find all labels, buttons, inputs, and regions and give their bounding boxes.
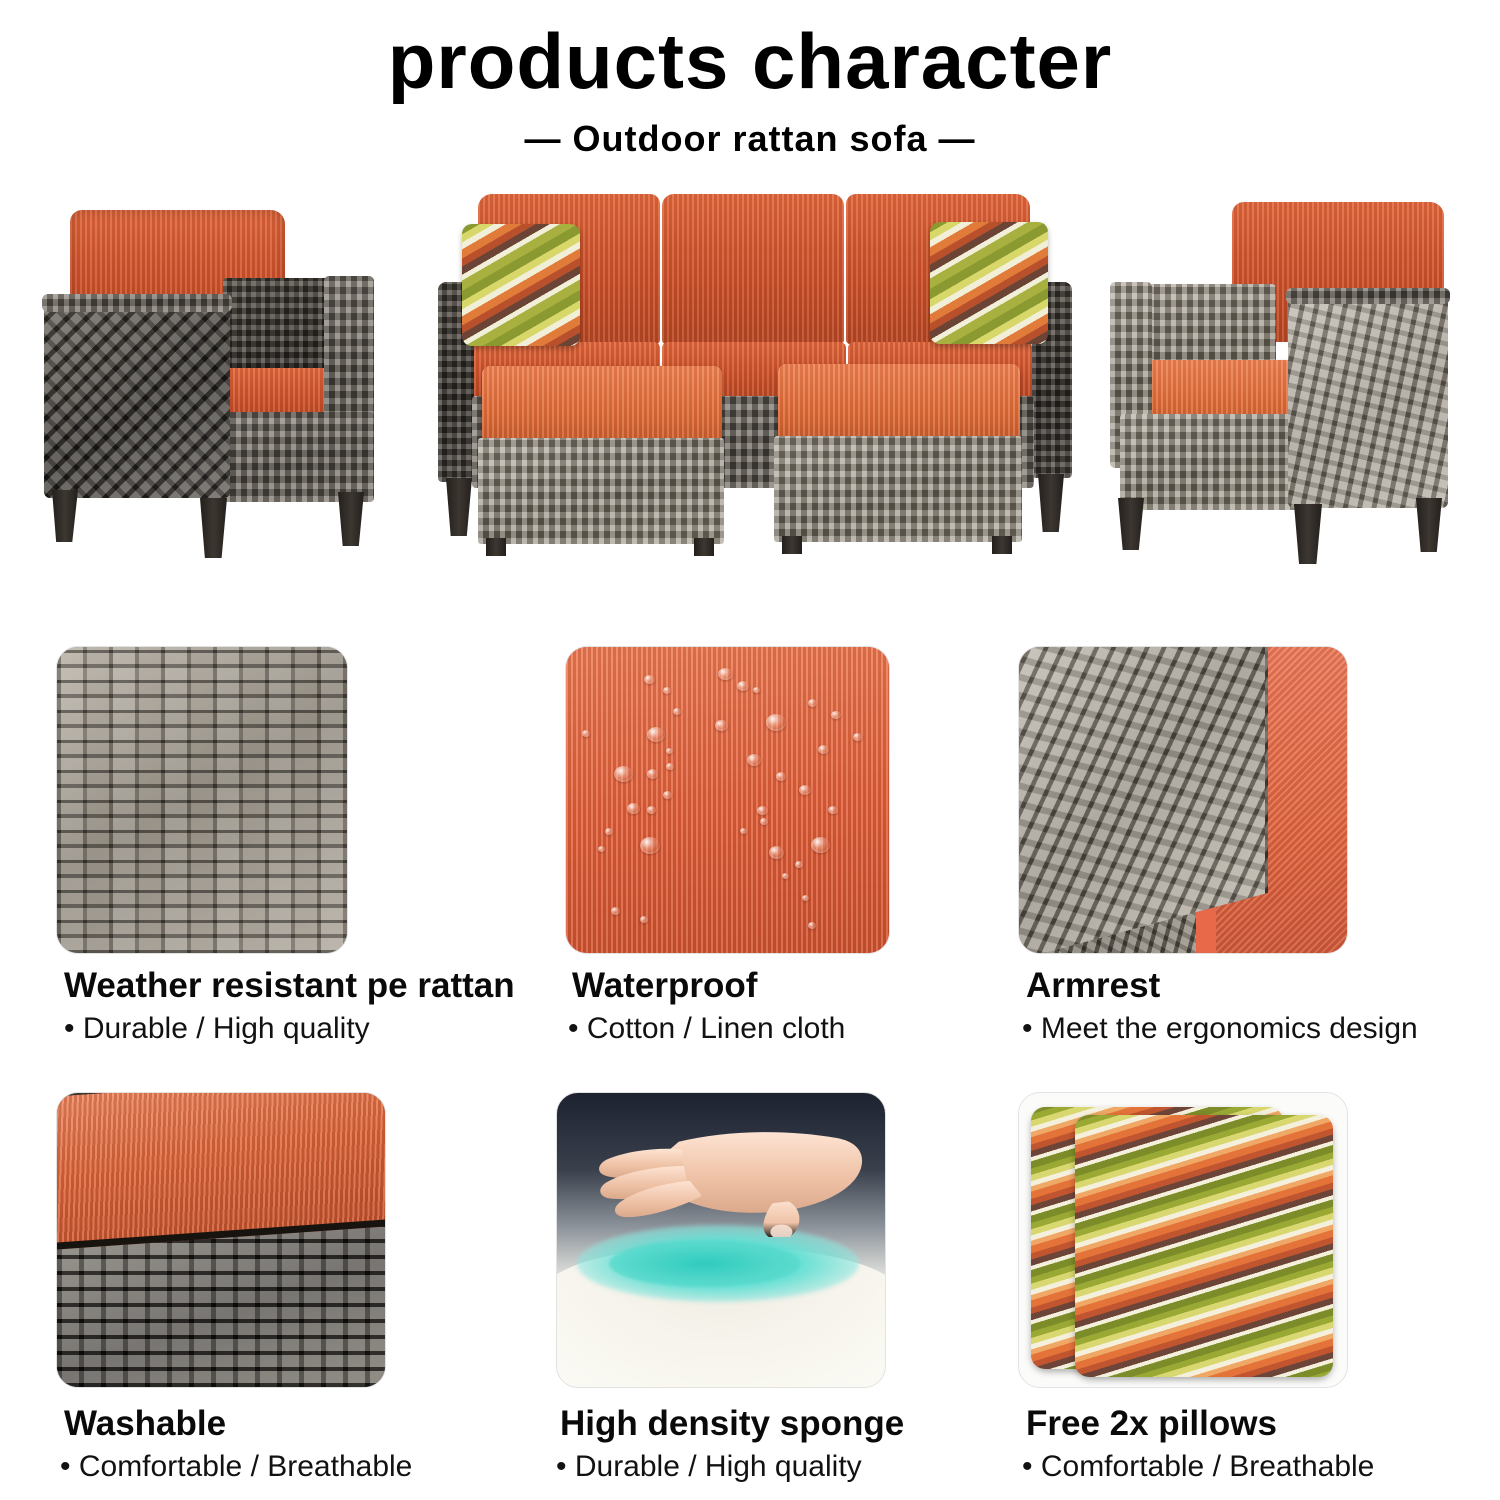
feature-subtitle-washable: • Comfortable / Breathable bbox=[60, 1450, 412, 1484]
feature-title-washable: Washable bbox=[64, 1404, 226, 1444]
hand-pressing-memory-foam-icon bbox=[557, 1093, 885, 1387]
armrest-near-panel bbox=[1288, 294, 1448, 508]
seat-apron bbox=[1120, 414, 1304, 510]
ottoman-leg bbox=[782, 536, 802, 554]
armrest-top-rail bbox=[42, 294, 232, 312]
seat-apron bbox=[214, 412, 374, 502]
feature-image-armrest bbox=[1018, 646, 1348, 954]
ottoman-base bbox=[478, 438, 724, 544]
feature-title-armrest: Armrest bbox=[1026, 966, 1160, 1006]
feature-image-waterproof bbox=[565, 646, 890, 954]
feature-title-free-2x-pillows: Free 2x pillows bbox=[1026, 1404, 1277, 1444]
chair-leg bbox=[52, 490, 78, 542]
ottoman-left bbox=[478, 366, 726, 558]
three-seat-sofa bbox=[438, 190, 1072, 565]
feature-title-waterproof: Waterproof bbox=[572, 966, 757, 1006]
ottoman-leg bbox=[486, 538, 506, 556]
feature-subtitle-armrest: • Meet the ergonomics design bbox=[1022, 1012, 1418, 1046]
chair-leg bbox=[1118, 498, 1144, 550]
product-feature-infographic: products character — Outdoor rattan sofa… bbox=[0, 0, 1500, 1500]
rattan-weave-macro-icon bbox=[57, 647, 347, 953]
feature-image-washable bbox=[56, 1092, 386, 1388]
feature-image-high-density-sponge bbox=[556, 1092, 886, 1388]
feature-subtitle-free-2x-pillows: • Comfortable / Breathable bbox=[1022, 1450, 1374, 1484]
armchair-right bbox=[1098, 198, 1456, 566]
ottoman-cushion bbox=[778, 364, 1020, 442]
feature-subtitle-high-density-sponge: • Durable / High quality bbox=[556, 1450, 862, 1484]
ottoman-right bbox=[774, 364, 1024, 556]
ottoman-cushion bbox=[482, 366, 722, 444]
ottoman-base bbox=[774, 436, 1022, 542]
ottoman-leg bbox=[992, 536, 1012, 554]
feature-image-weather-resistant-pe-rattan bbox=[56, 646, 348, 954]
ottoman-leg bbox=[694, 538, 714, 556]
water-beads-on-orange-fabric-icon bbox=[566, 647, 889, 953]
feature-subtitle-waterproof: • Cotton / Linen cloth bbox=[568, 1012, 845, 1046]
sofa-back-cushion bbox=[662, 194, 844, 344]
woven-armrest-corner-icon bbox=[1019, 647, 1347, 953]
chair-leg bbox=[1416, 498, 1442, 552]
feature-title-high-density-sponge: High density sponge bbox=[560, 1404, 904, 1444]
sofa-leg bbox=[1038, 474, 1064, 532]
sofa-leg bbox=[446, 478, 472, 536]
feature-image-free-2x-pillows bbox=[1018, 1092, 1348, 1388]
hero-product-photo bbox=[0, 180, 1500, 580]
armchair-left bbox=[28, 200, 378, 560]
feature-title-weather-resistant-pe-rattan: Weather resistant pe rattan bbox=[64, 966, 515, 1006]
page-title: products character bbox=[0, 16, 1500, 107]
armrest-top-rail bbox=[1286, 288, 1450, 304]
page-subtitle: — Outdoor rattan sofa — bbox=[0, 118, 1500, 160]
pair-of-chevron-pillows-icon bbox=[1019, 1093, 1347, 1387]
armrest-near-panel bbox=[44, 298, 230, 498]
feature-subtitle-weather-resistant-pe-rattan: • Durable / High quality bbox=[64, 1012, 370, 1046]
throw-pillow-left bbox=[462, 224, 580, 346]
chair-leg bbox=[1294, 504, 1322, 564]
chair-leg bbox=[200, 498, 227, 558]
orange-cushion-on-dark-weave-icon bbox=[57, 1093, 385, 1387]
pillow-front bbox=[1075, 1115, 1333, 1377]
throw-pillow-right bbox=[930, 222, 1048, 344]
chair-leg bbox=[338, 492, 364, 546]
